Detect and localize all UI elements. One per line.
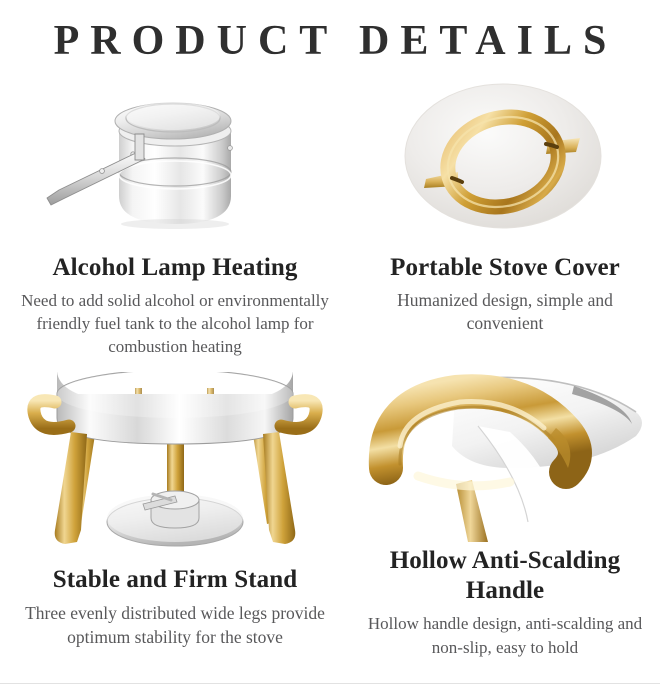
card-heading-alcohol-lamp: Alcohol Lamp Heating — [46, 253, 303, 283]
product-card-stand: Stable and Firm Stand Three evenly distr… — [0, 362, 350, 660]
alcohol-lamp-photo — [0, 74, 350, 239]
product-details-grid: Alcohol Lamp Heating Need to add solid a… — [0, 72, 660, 660]
card-heading-hollow-handle: Hollow Anti-Scalding Handle — [350, 546, 660, 606]
chafing-stand-photo — [0, 372, 350, 557]
card-description-stand: Three evenly distributed wide legs provi… — [0, 601, 350, 649]
card-heading-stove-cover: Portable Stove Cover — [384, 253, 626, 283]
hollow-handle-photo — [350, 372, 660, 542]
product-card-stove-cover: Portable Stove Cover Humanized design, s… — [350, 72, 660, 362]
page-title: PRODUCT DETAILS — [0, 0, 660, 72]
card-description-stove-cover: Humanized design, simple and convenient — [350, 289, 660, 335]
card-heading-stand: Stable and Firm Stand — [47, 565, 304, 595]
stove-cover-photo — [350, 74, 660, 239]
card-description-hollow-handle: Hollow handle design, anti-scalding and … — [350, 612, 660, 660]
product-card-hollow-handle: Hollow Anti-Scalding Handle Hollow handl… — [350, 362, 660, 660]
product-card-alcohol-lamp: Alcohol Lamp Heating Need to add solid a… — [0, 72, 350, 362]
card-description-alcohol-lamp: Need to add solid alcohol or environment… — [0, 289, 350, 358]
